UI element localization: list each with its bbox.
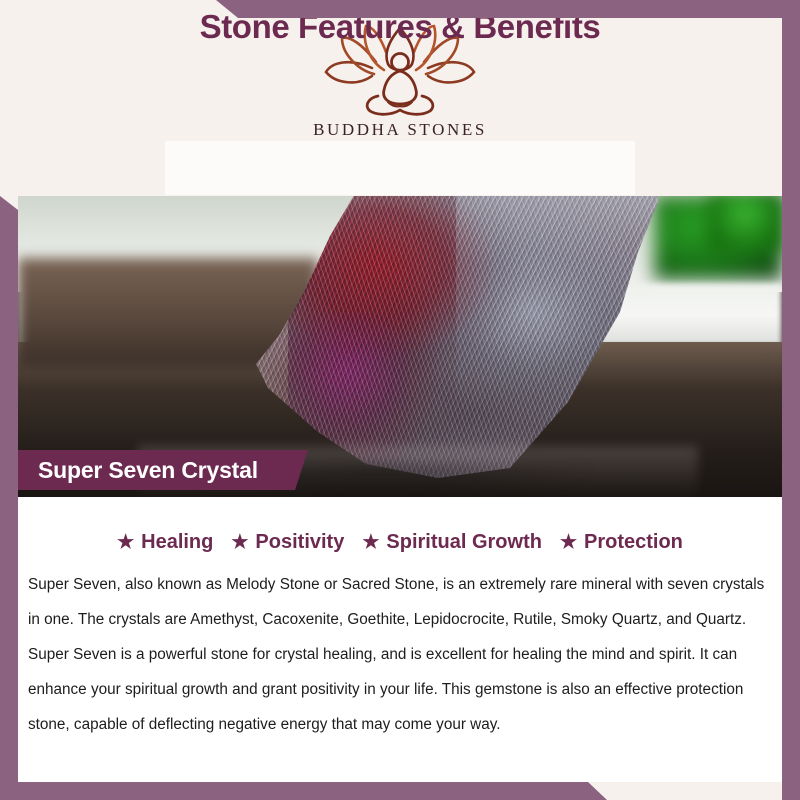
benefit-item: ★Protection [551,531,692,554]
benefit-item: ★Healing [108,531,222,554]
star-icon: ★ [231,533,248,552]
benefit-label: Spiritual Growth [386,531,542,554]
star-icon: ★ [362,533,379,552]
benefit-label: Healing [141,531,213,554]
title-band [165,141,635,195]
frame-border-bottom [0,782,800,800]
frame-border-right [782,0,800,800]
stone-name-label: Super Seven Crystal [38,450,258,490]
benefit-item: ★Spiritual Growth [353,531,551,554]
benefit-label: Protection [584,531,683,554]
star-icon: ★ [560,533,577,552]
benefit-item: ★Positivity [222,531,353,554]
infographic-poster: BUDDHA STONES Stone Features & Benefits … [0,0,800,800]
poster-header: BUDDHA STONES Stone Features & Benefits [0,0,800,197]
benefits-list: ★Healing★Positivity★Spiritual Growth★Pro… [18,522,782,562]
brand-name: BUDDHA STONES [0,120,800,140]
hero-green-foliage-highlight [708,196,782,252]
star-icon: ★ [117,533,134,552]
frame-border-left [0,196,18,800]
stone-description: Super Seven, also known as Melody Stone … [28,567,770,742]
benefit-label: Positivity [255,531,344,554]
